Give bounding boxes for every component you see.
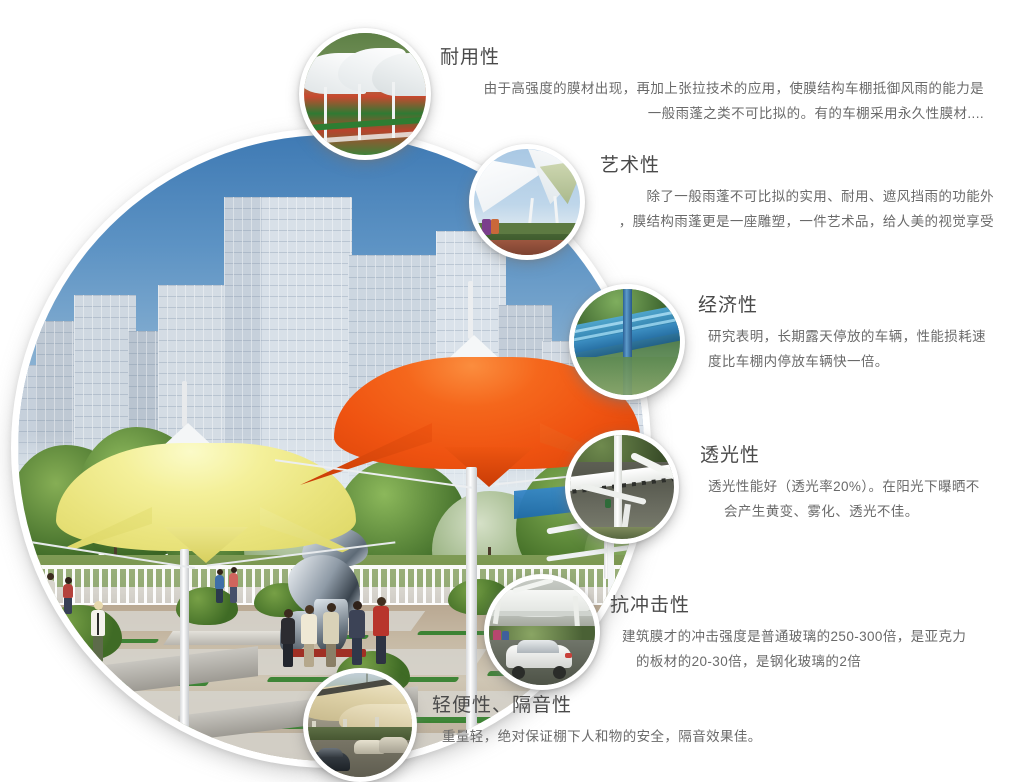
feature-body-line: ，膜结构雨蓬更是一座雕塑，一件艺术品，给人美的视觉享受 (600, 209, 994, 234)
thumb-image-lightweight-soundproof (308, 673, 412, 777)
feature-body-durability: 由于高强度的膜材出现，再加上张拉技术的应用，使膜结构车棚抵御风雨的能力是 一般雨… (440, 76, 984, 126)
feature-body-impact-resistance: 建筑膜才的冲击强度是普通玻璃的250-300倍，是亚克力 的板材的20-30倍，… (610, 624, 1005, 674)
feature-body-line: 度比车棚内停放车辆快一倍。 (708, 349, 998, 374)
feature-text-durability: 耐用性 由于高强度的膜材出现，再加上张拉技术的应用，使膜结构车棚抵御风雨的能力是… (440, 42, 984, 126)
feature-thumb-translucency[interactable] (565, 430, 679, 544)
feature-thumb-impact-resistance[interactable] (484, 574, 600, 690)
feature-body-line: 会产生黄变、雾化、透光不佳。 (708, 499, 1000, 524)
feature-title-durability: 耐用性 (440, 42, 984, 69)
feature-title-translucency: 透光性 (700, 440, 1000, 467)
feature-body-line: 研究表明，长期露天停放的车辆，性能损耗速 (708, 324, 998, 349)
thumb-image-durability (304, 33, 426, 155)
feature-body-line: 一般雨蓬之类不可比拟的。有的车棚采用永久性膜材.... (440, 101, 984, 126)
thumb-image-artistry (474, 149, 580, 255)
feature-body-economy: 研究表明，长期露天停放的车辆，性能损耗速 度比车棚内停放车辆快一倍。 (698, 324, 998, 374)
yellow-membrane-canopy (56, 403, 356, 573)
feature-body-lightweight-soundproof: 重量轻，绝对保证棚下人和物的安全，隔音效果佳。 (432, 724, 852, 749)
feature-body-line: 透光性能好（透光率20%）。在阳光下曝晒不 (708, 474, 1000, 499)
feature-thumb-artistry[interactable] (469, 144, 585, 260)
feature-body-line: 建筑膜才的冲击强度是普通玻璃的250-300倍，是亚克力 (622, 624, 1005, 649)
feature-text-economy: 经济性 研究表明，长期露天停放的车辆，性能损耗速 度比车棚内停放车辆快一倍。 (698, 290, 998, 374)
feature-text-impact-resistance: 抗冲击性 建筑膜才的冲击强度是普通玻璃的250-300倍，是亚克力 的板材的20… (610, 590, 1005, 674)
feature-title-artistry: 艺术性 (600, 150, 994, 177)
thumb-image-translucency (570, 435, 674, 539)
thumb-image-impact-resistance (489, 579, 595, 685)
feature-title-lightweight-soundproof: 轻便性、隔音性 (432, 690, 852, 717)
feature-title-economy: 经济性 (698, 290, 998, 317)
feature-thumb-lightweight-soundproof[interactable] (303, 668, 417, 782)
feature-text-lightweight-soundproof: 轻便性、隔音性 重量轻，绝对保证棚下人和物的安全，隔音效果佳。 (432, 690, 852, 749)
feature-body-line: 的板材的20-30倍，是钢化玻璃的2倍 (622, 649, 1005, 674)
feature-body-line: 由于高强度的膜材出现，再加上张拉技术的应用，使膜结构车棚抵御风雨的能力是 (440, 76, 984, 101)
thumb-image-economy (574, 289, 680, 395)
feature-text-artistry: 艺术性 除了一般雨蓬不可比拟的实用、耐用、遮风挡雨的功能外 ，膜结构雨蓬更是一座… (600, 150, 994, 234)
feature-body-artistry: 除了一般雨蓬不可比拟的实用、耐用、遮风挡雨的功能外 ，膜结构雨蓬更是一座雕塑，一… (600, 184, 994, 234)
feature-thumb-economy[interactable] (569, 284, 685, 400)
feature-text-translucency: 透光性 透光性能好（透光率20%）。在阳光下曝晒不 会产生黄变、雾化、透光不佳。 (700, 440, 1000, 524)
poster-canvas: 耐用性 由于高强度的膜材出现，再加上张拉技术的应用，使膜结构车棚抵御风雨的能力是… (0, 0, 1023, 782)
feature-body-line: 重量轻，绝对保证棚下人和物的安全，隔音效果佳。 (442, 724, 852, 749)
feature-title-impact-resistance: 抗冲击性 (610, 590, 1005, 617)
feature-body-translucency: 透光性能好（透光率20%）。在阳光下曝晒不 会产生黄变、雾化、透光不佳。 (700, 474, 1000, 524)
feature-body-line: 除了一般雨蓬不可比拟的实用、耐用、遮风挡雨的功能外 (600, 184, 994, 209)
feature-thumb-durability[interactable] (299, 28, 431, 160)
